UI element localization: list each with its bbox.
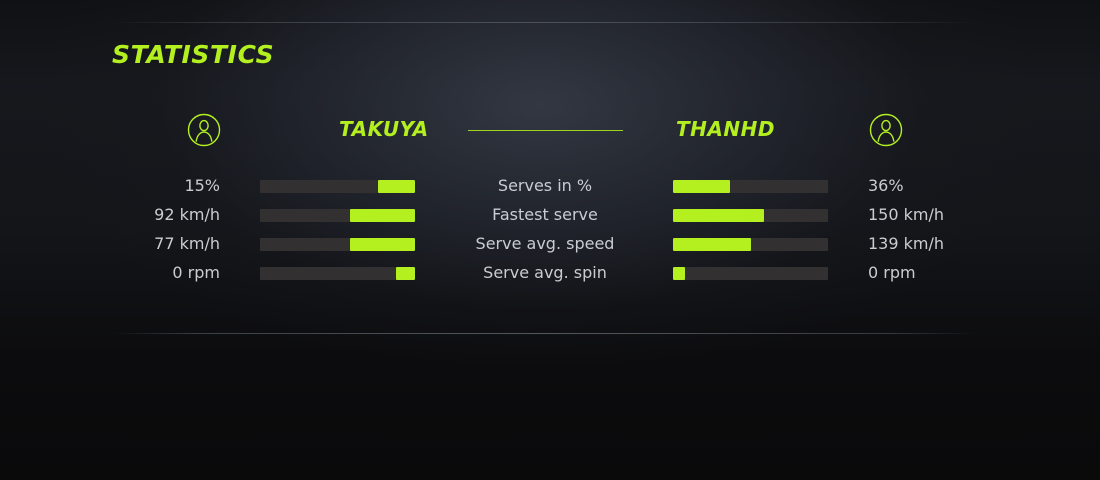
person-circle-icon bbox=[182, 108, 226, 152]
stat-row: 92 km/h Fastest serve 150 km/h bbox=[0, 204, 1100, 233]
stat-value-left: 77 km/h bbox=[110, 233, 220, 255]
stat-label: Fastest serve bbox=[420, 204, 670, 226]
header-accent-rule bbox=[468, 130, 623, 131]
stat-row: 0 rpm Serve avg. spin 0 rpm bbox=[0, 262, 1100, 291]
stat-bar-left bbox=[260, 209, 415, 222]
stat-bar-left-fill bbox=[378, 180, 415, 193]
stat-bar-right-fill bbox=[673, 238, 751, 251]
page-title: STATISTICS bbox=[112, 40, 274, 69]
stat-bar-right bbox=[673, 209, 828, 222]
bottom-divider bbox=[112, 333, 978, 334]
stat-value-left: 15% bbox=[110, 175, 220, 197]
stat-bar-left-fill bbox=[396, 267, 415, 280]
stat-bar-left bbox=[260, 180, 415, 193]
player-name-left: TAKUYA bbox=[339, 117, 429, 141]
stat-value-right: 0 rpm bbox=[868, 262, 978, 284]
stat-bar-left bbox=[260, 267, 415, 280]
stat-bar-right-fill bbox=[673, 180, 730, 193]
stat-bar-right-fill bbox=[673, 267, 685, 280]
stat-bar-right bbox=[673, 238, 828, 251]
person-circle-icon bbox=[864, 108, 908, 152]
stat-bar-left-fill bbox=[350, 209, 415, 222]
stat-value-right: 36% bbox=[868, 175, 978, 197]
stat-row: 15% Serves in % 36% bbox=[0, 175, 1100, 204]
stat-label: Serve avg. spin bbox=[420, 262, 670, 284]
stat-value-right: 139 km/h bbox=[868, 233, 978, 255]
top-divider bbox=[112, 22, 978, 23]
stat-value-left: 0 rpm bbox=[110, 262, 220, 284]
stat-bar-left-fill bbox=[350, 238, 415, 251]
avatar-right[interactable] bbox=[864, 108, 908, 152]
stat-value-right: 150 km/h bbox=[868, 204, 978, 226]
stat-label: Serves in % bbox=[420, 175, 670, 197]
stat-bar-right bbox=[673, 180, 828, 193]
avatar-left[interactable] bbox=[182, 108, 226, 152]
stats-table: 15% Serves in % 36% 92 km/h Fastest serv… bbox=[0, 175, 1100, 291]
stat-row: 77 km/h Serve avg. speed 139 km/h bbox=[0, 233, 1100, 262]
stat-bar-left bbox=[260, 238, 415, 251]
player-name-right: THANHD bbox=[676, 117, 775, 141]
statistics-panel: STATISTICS TAKUYA THANHD 15% S bbox=[0, 0, 1100, 480]
stat-value-left: 92 km/h bbox=[110, 204, 220, 226]
stat-bar-right bbox=[673, 267, 828, 280]
stat-bar-right-fill bbox=[673, 209, 764, 222]
stat-label: Serve avg. speed bbox=[420, 233, 670, 255]
